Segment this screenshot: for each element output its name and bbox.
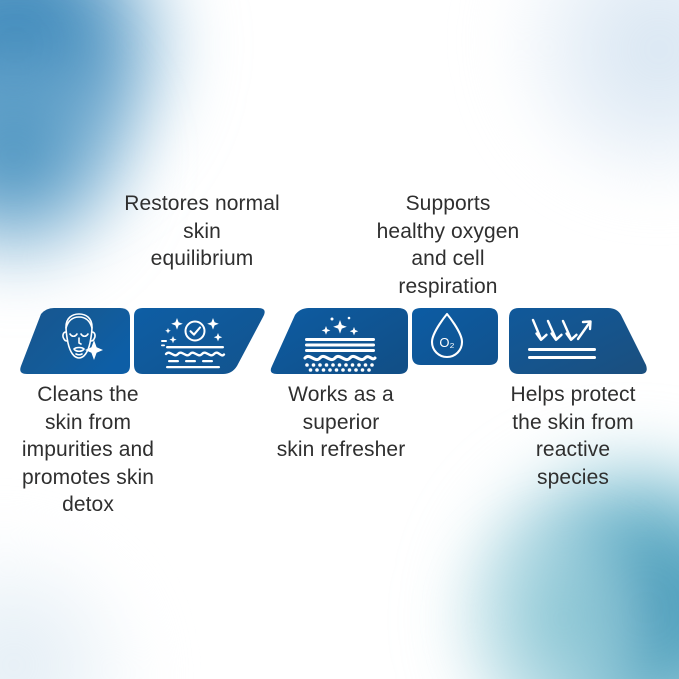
- background-blob-top-left: [0, 0, 180, 210]
- benefit-chip-band: O₂: [0, 306, 679, 376]
- background-blob-top-right: [509, 0, 679, 180]
- caption-works-as-a-superior-skin-refresher: Works as a superior skin refresher: [252, 381, 430, 464]
- chip-shape-sparkle-check-waves[interactable]: [134, 308, 265, 374]
- chip-shapes: [0, 306, 679, 376]
- chip-shape-skin-layers-sparkle[interactable]: [271, 308, 408, 374]
- background-blob-bottom-right: [459, 459, 679, 679]
- caption-helps-protect-the-skin-from-reactive-species: Helps protect the skin from reactive spe…: [484, 381, 662, 491]
- infographic-canvas: Restores normal skin equilibrium Support…: [0, 0, 679, 679]
- caption-cleans-the-skin-from-impurities: Cleans the skin from impurities and prom…: [0, 381, 176, 519]
- chip-shape-shield-arrows[interactable]: [509, 308, 647, 374]
- caption-supports-healthy-oxygen-and-cell-respiration: Supports healthy oxygen and cell respira…: [346, 190, 550, 300]
- chip-shape-face-sparkle[interactable]: [20, 308, 130, 374]
- background-blob-bottom-left: [0, 539, 140, 679]
- chip-shape-oxygen-droplet[interactable]: [412, 308, 498, 365]
- background-blob-bottom-right-inner: [459, 519, 669, 679]
- caption-restores-normal-skin-equilibrium: Restores normal skin equilibrium: [96, 190, 308, 273]
